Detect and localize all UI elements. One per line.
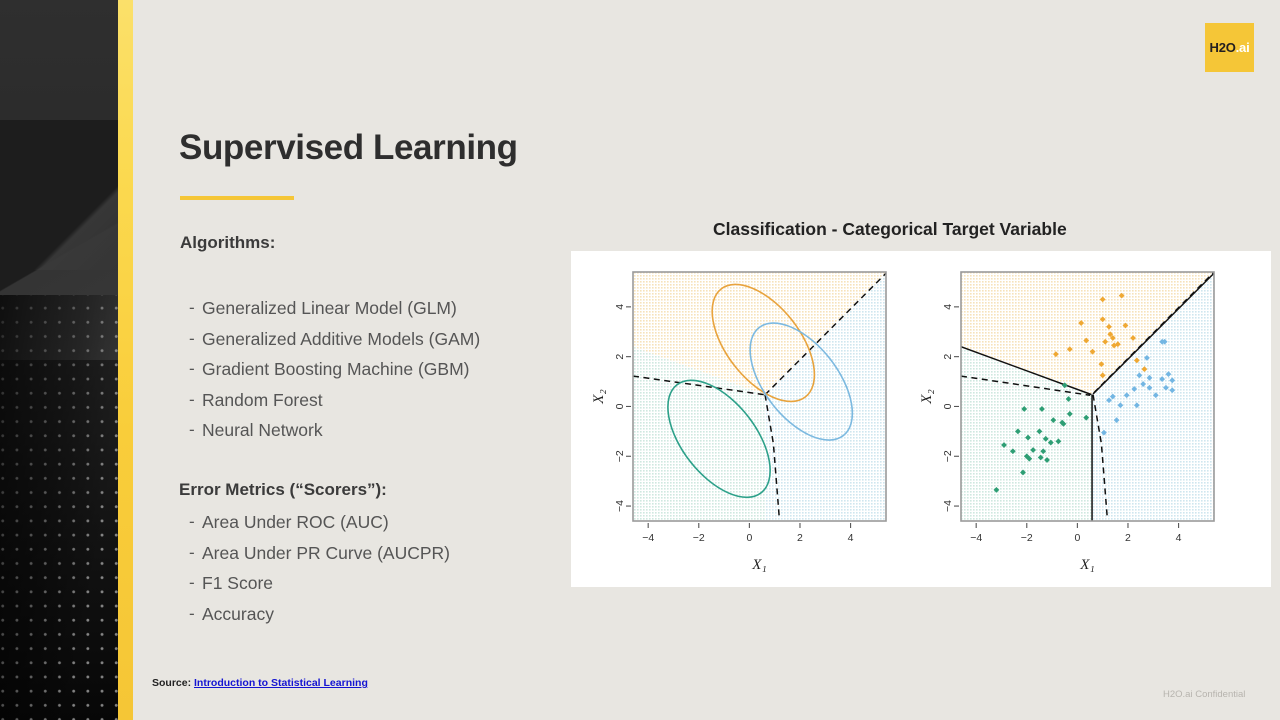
sidebar-dot-pattern [0,295,118,720]
list-item: - Accuracy [180,602,450,633]
x-tick-label: 4 [1176,532,1182,544]
bullet-dash-icon: - [180,296,202,320]
list-item-label: Neural Network [202,418,323,442]
page-title: Supervised Learning [179,128,518,168]
sidebar-decoration [0,0,118,720]
x-tick-label: 2 [1125,532,1131,544]
classification-figure: −4−2024−4−2024X₁X₂−4−2024−4−2024X₁X₂ [571,251,1271,587]
y-tick-label: 2 [614,354,626,360]
h2o-logo: H2O.ai [1205,23,1254,72]
x-tick-label: 0 [1074,532,1080,544]
x-tick-label: 0 [746,532,752,544]
list-item-label: Generalized Additive Models (GAM) [202,327,480,351]
list-item-label: Random Forest [202,388,323,412]
list-item-label: Area Under PR Curve (AUCPR) [202,541,450,565]
y-tick-label: −4 [614,500,626,512]
list-item-label: F1 Score [202,571,273,595]
logo-suffix: .ai [1236,40,1250,55]
x-tick-label: 4 [848,532,854,544]
list-item: - Gradient Boosting Machine (GBM) [180,357,480,388]
x-tick-label: −4 [970,532,982,544]
error-metrics-heading: Error Metrics (“Scorers”): [179,480,387,500]
error-metrics-list: - Area Under ROC (AUC) - Area Under PR C… [180,510,450,632]
chart-title: Classification - Categorical Target Vari… [713,219,1067,240]
source-line: Source: Introduction to Statistical Lear… [152,677,368,689]
list-item-label: Generalized Linear Model (GLM) [202,296,457,320]
panel-left-panel: −4−2024−4−2024X₁X₂ [591,266,886,573]
list-item: - Random Forest [180,388,480,419]
source-link[interactable]: Introduction to Statistical Learning [194,677,368,689]
y-tick-label: −2 [942,450,954,462]
y-tick-label: 2 [942,354,954,360]
list-item: - F1 Score [180,571,450,602]
x-tick-label: −4 [642,532,654,544]
plot-region [961,272,1214,521]
title-underline-rule [180,196,294,200]
x-axis-label: X₁ [751,557,766,573]
accent-stripe [118,0,133,720]
y-axis-label: X₂ [919,389,935,404]
bullet-dash-icon: - [180,541,202,565]
bullet-dash-icon: - [180,571,202,595]
y-tick-label: 4 [614,304,626,310]
list-item-label: Area Under ROC (AUC) [202,510,389,534]
list-item: - Area Under PR Curve (AUCPR) [180,541,450,572]
sidebar-diagonal-highlight [0,150,118,270]
x-tick-label: −2 [1021,532,1033,544]
y-tick-label: −2 [614,450,626,462]
y-tick-label: 0 [614,403,626,409]
bullet-dash-icon: - [180,357,202,381]
x-tick-label: 2 [797,532,803,544]
y-tick-label: −4 [942,500,954,512]
list-item: - Neural Network [180,418,480,449]
plot-region [633,266,886,521]
bullet-dash-icon: - [180,510,202,534]
bullet-dash-icon: - [180,388,202,412]
bullet-dash-icon: - [180,327,202,351]
list-item-label: Accuracy [202,602,274,626]
y-tick-label: 0 [942,403,954,409]
source-prefix: Source: [152,677,191,689]
list-item: - Area Under ROC (AUC) [180,510,450,541]
logo-name: H2O [1210,40,1236,55]
algorithms-list: - Generalized Linear Model (GLM) - Gener… [180,296,480,449]
x-axis-label: X₁ [1079,557,1094,573]
list-item: - Generalized Additive Models (GAM) [180,327,480,358]
list-item-label: Gradient Boosting Machine (GBM) [202,357,469,381]
y-tick-label: 4 [942,304,954,310]
list-item: - Generalized Linear Model (GLM) [180,296,480,327]
bullet-dash-icon: - [180,602,202,626]
logo-text: H2O.ai [1210,41,1250,54]
confidential-notice: H2O.ai Confidential [1163,689,1245,700]
chart-panel: −4−2024−4−2024X₁X₂−4−2024−4−2024X₁X₂ [571,251,1271,587]
x-tick-label: −2 [693,532,705,544]
panel-right-panel: −4−2024−4−2024X₁X₂ [919,272,1214,573]
y-axis-label: X₂ [591,389,607,404]
bullet-dash-icon: - [180,418,202,442]
algorithms-heading: Algorithms: [180,233,275,253]
